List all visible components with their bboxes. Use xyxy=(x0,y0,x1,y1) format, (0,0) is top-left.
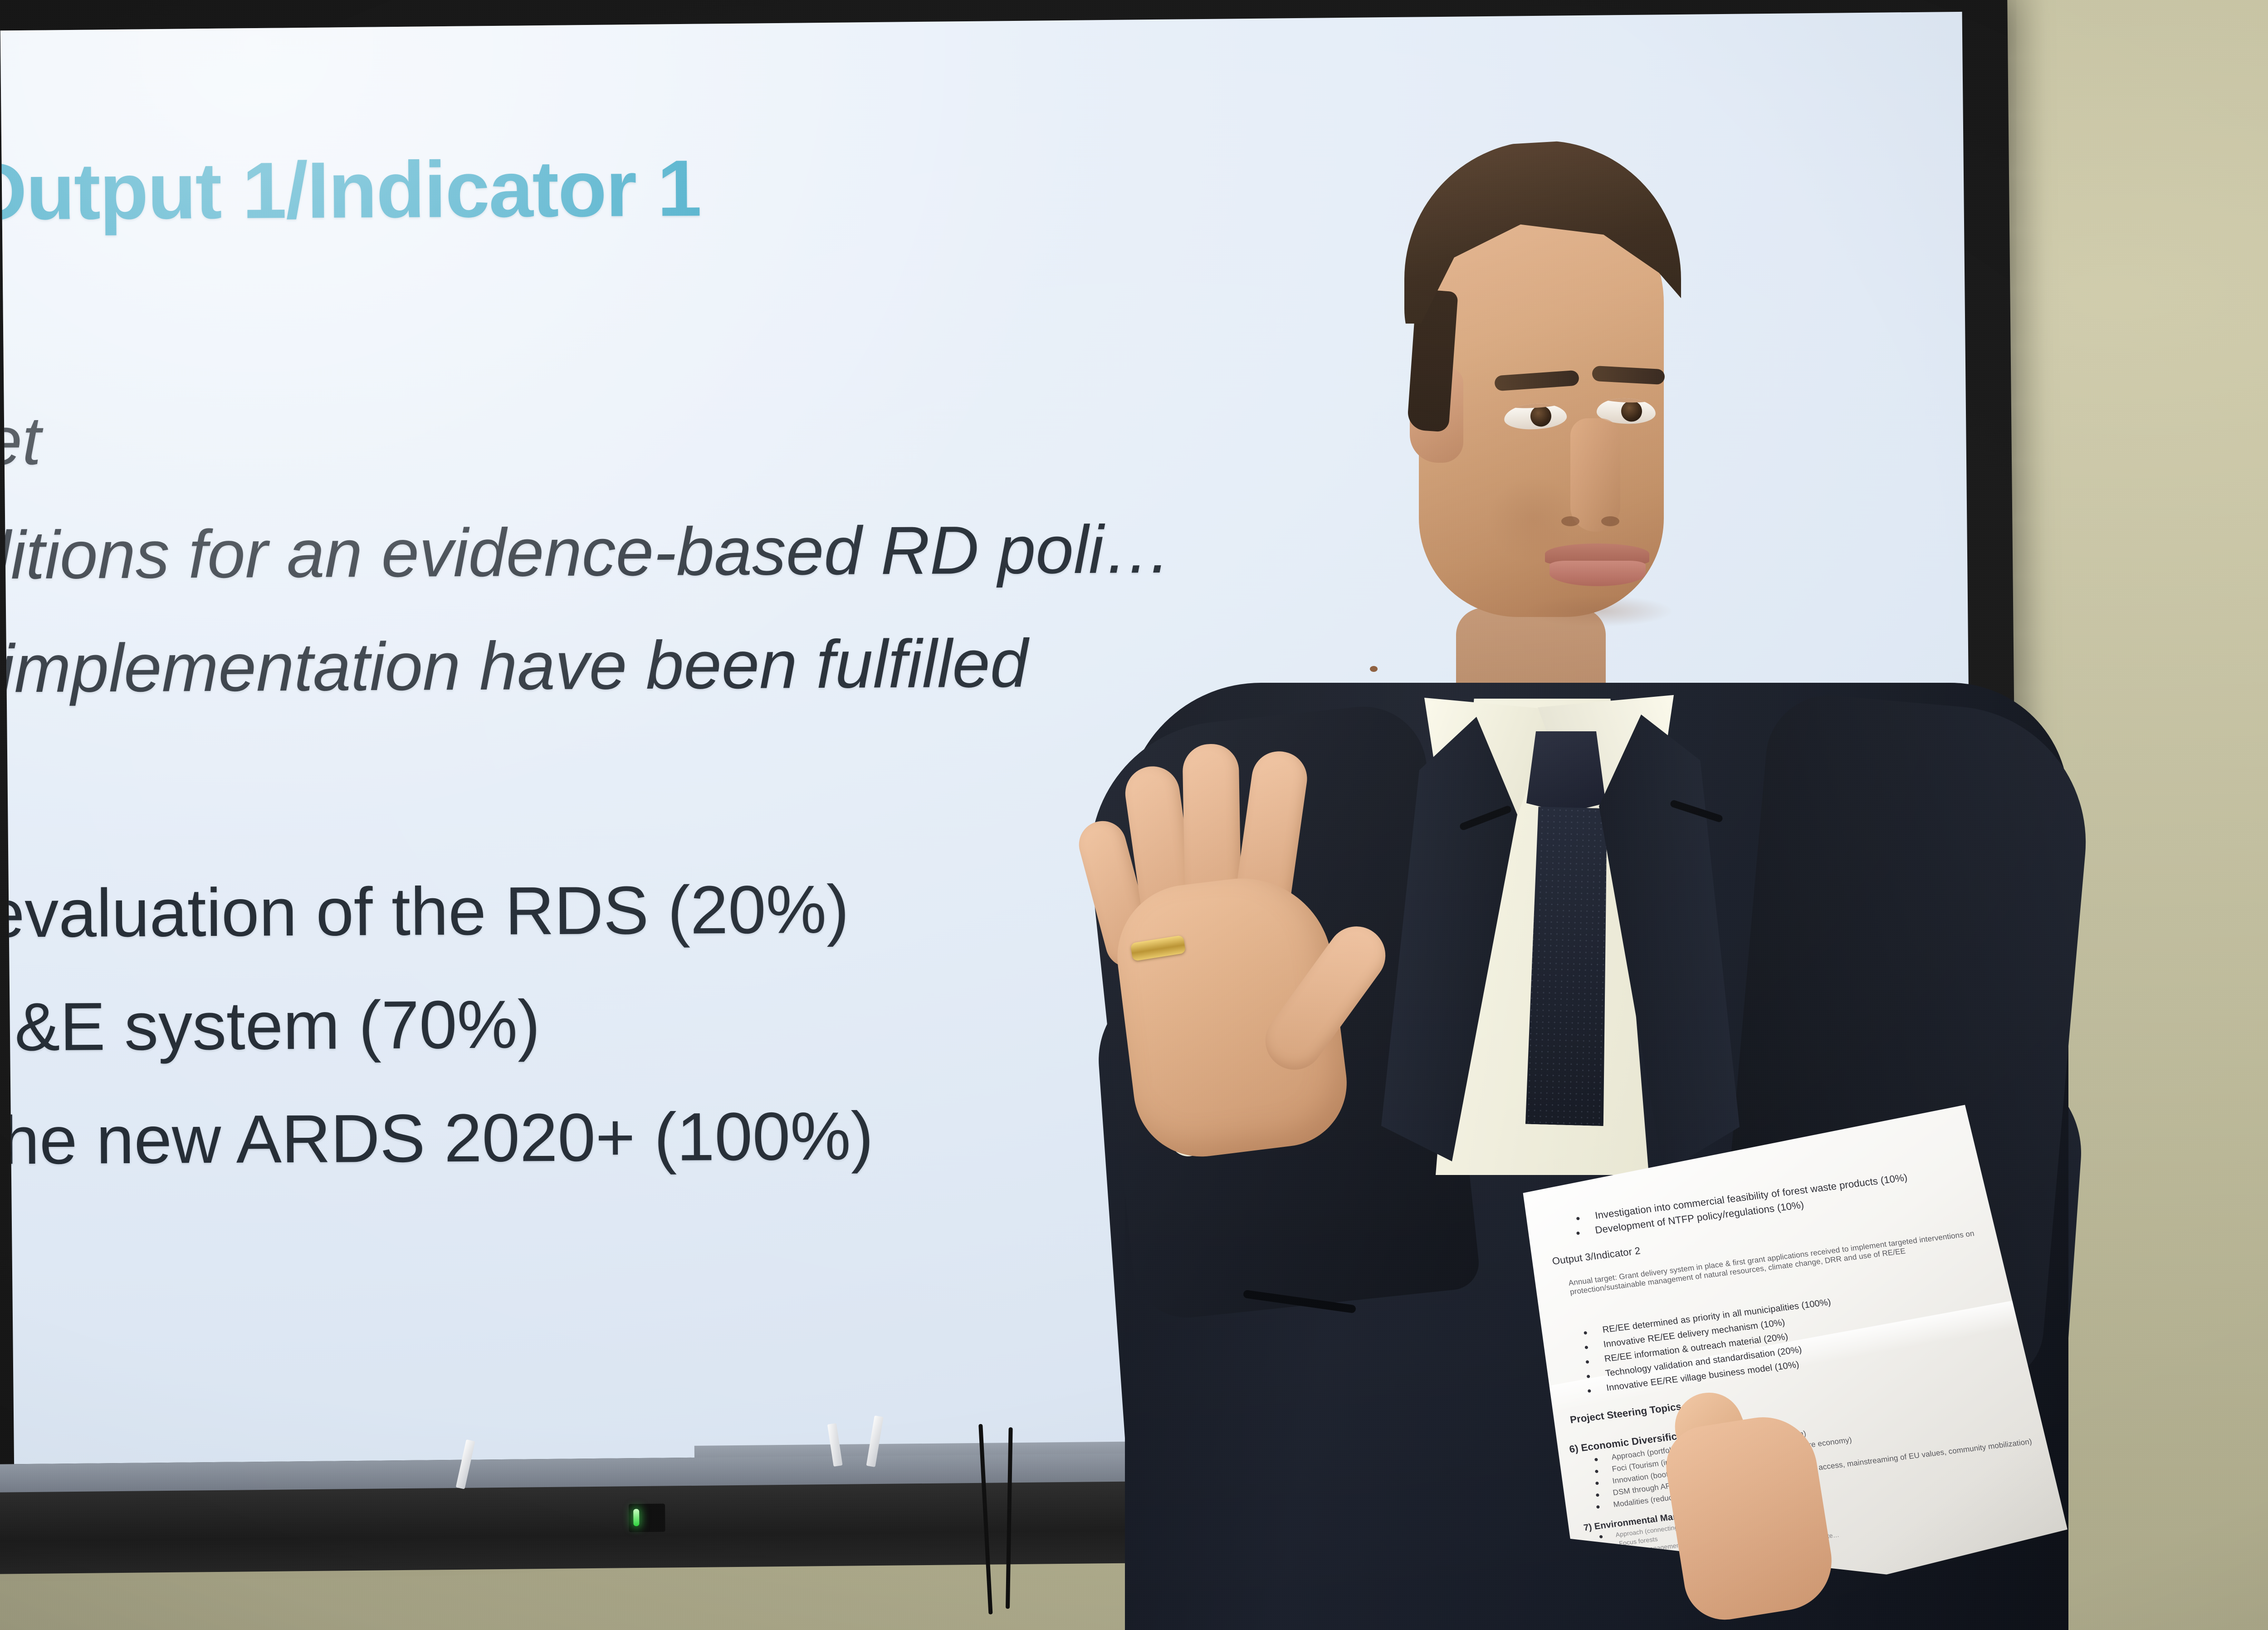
slide-line-6: …he new ARDS 2020+ (100%) xyxy=(0,1096,874,1180)
slide-line-5: …&E system (70%) xyxy=(0,985,541,1067)
slide-line-1: …et xyxy=(0,401,41,480)
slide-line-3: …D implementation have been fulfilled xyxy=(0,624,1028,709)
handout-annual-target: Annual target: Grant delivery system in … xyxy=(1568,1229,1977,1297)
slide-title: Output 1/Indicator 1 xyxy=(0,142,701,238)
bullet-marker xyxy=(1585,1360,1589,1364)
neck-mole xyxy=(1370,666,1378,672)
bullet-marker xyxy=(1576,1217,1580,1220)
nostril xyxy=(1561,516,1579,526)
presenter: Investigation into commercial feasibilit… xyxy=(1048,113,2068,1630)
bullet-marker xyxy=(1596,1493,1599,1497)
bullet-marker xyxy=(1576,1231,1580,1235)
slide-line-2: …nditions for an evidence-based RD poli… xyxy=(0,510,1172,595)
nostril xyxy=(1601,516,1619,526)
handout-heading-output3: Output 3/Indicator 2 xyxy=(1551,1245,1642,1267)
slide-line-4: …evaluation of the RDS (20%) xyxy=(0,870,850,954)
bullet-marker xyxy=(1596,1505,1600,1509)
bullet-marker xyxy=(1595,1482,1599,1485)
lower-lip xyxy=(1549,561,1646,586)
bullet-marker xyxy=(1584,1346,1588,1349)
bullet-marker xyxy=(1587,1375,1590,1378)
iris xyxy=(1530,405,1552,427)
bullet-marker xyxy=(1594,1458,1598,1461)
presentation-photo-scene: Output 1/Indicator 1 …et …nditions for a… xyxy=(0,0,2268,1630)
bullet-marker xyxy=(1584,1331,1587,1335)
presenter-head xyxy=(1402,141,1683,644)
bullet-marker xyxy=(1595,1470,1598,1473)
necktie-knot xyxy=(1526,731,1606,813)
nose xyxy=(1570,418,1620,532)
necktie-pattern xyxy=(1525,807,1612,1126)
necktie xyxy=(1525,807,1612,1126)
iris xyxy=(1621,401,1642,422)
chin-shading xyxy=(1524,595,1674,627)
bullet-marker xyxy=(1599,1535,1603,1539)
power-led-indicator xyxy=(633,1509,639,1526)
